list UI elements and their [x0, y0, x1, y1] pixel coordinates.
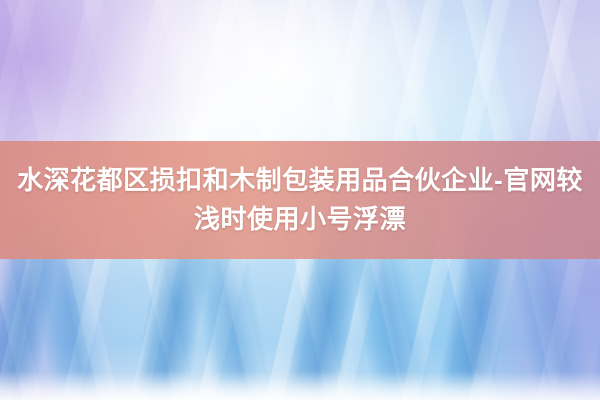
banner-image: 水深花都区损扣和木制包装用品合伙企业-官网较 浅时使用小号浮漂 [0, 0, 600, 400]
title-line-2: 浅时使用小号浮漂 [194, 201, 406, 238]
title-line-1: 水深花都区损扣和木制包装用品合伙企业-官网较 [17, 162, 583, 199]
title-text-block: 水深花都区损扣和木制包装用品合伙企业-官网较 浅时使用小号浮漂 [0, 141, 600, 259]
